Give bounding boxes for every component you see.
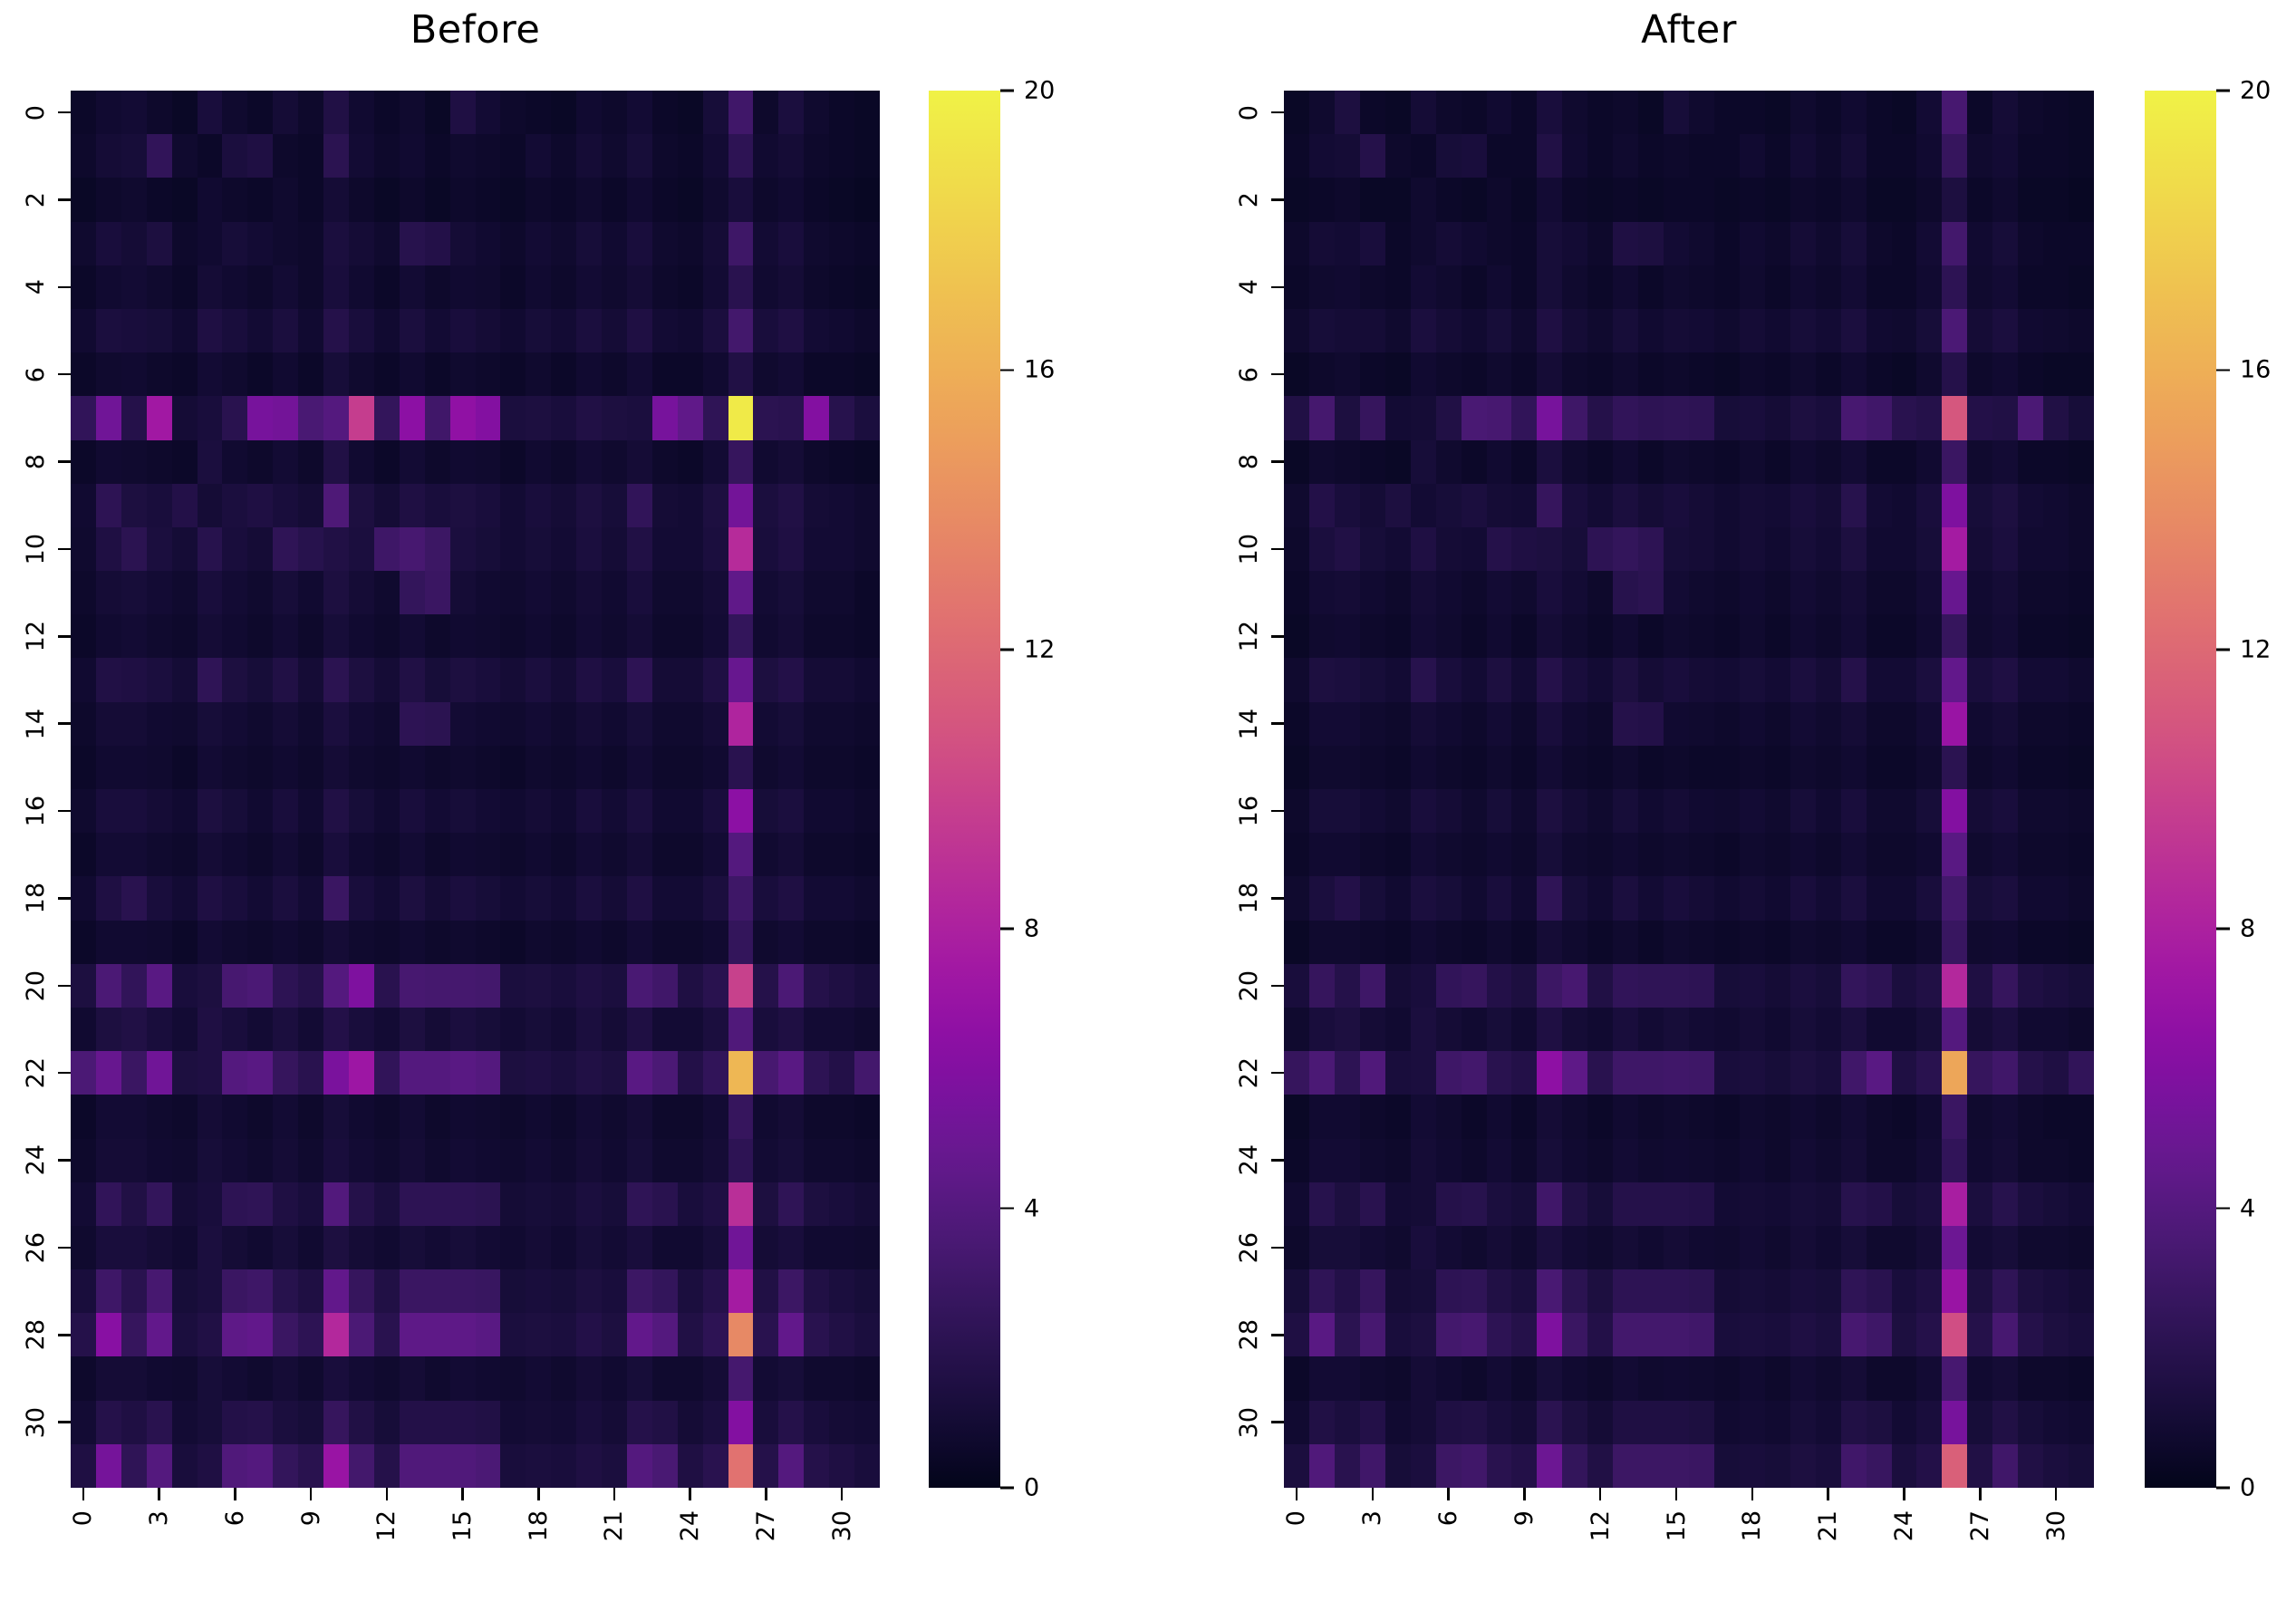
heatmap-cell: [2018, 1139, 2043, 1182]
heatmap-cell: [1462, 571, 1487, 614]
heatmap-cell: [1942, 265, 1967, 309]
heatmap-cell: [2018, 440, 2043, 484]
heatmap-cell: [1664, 1313, 1689, 1356]
heatmap-cell: [1816, 352, 1841, 396]
x-axis-tick: 21: [594, 1488, 634, 1541]
heatmap-cell: [1537, 571, 1562, 614]
heatmap-cell: [526, 964, 551, 1008]
heatmap-cell: [1967, 746, 1992, 789]
heatmap-cell: [829, 1356, 854, 1400]
x-tick-label: 21: [1816, 1510, 1840, 1541]
y-axis-tick: 20: [1237, 966, 1284, 1006]
heatmap-cell: [728, 964, 754, 1008]
heatmap-cell: [1284, 789, 1309, 833]
x-axis-tick: 0: [63, 1488, 103, 1526]
heatmap-cell: [500, 1444, 526, 1488]
heatmap-cell: [476, 1226, 501, 1269]
heatmap-cell: [2069, 658, 2094, 701]
heatmap-cell: [273, 484, 298, 527]
heatmap-cell: [1967, 352, 1992, 396]
heatmap-cell: [400, 614, 425, 658]
heatmap-cell: [323, 222, 349, 265]
heatmap-cell: [222, 440, 247, 484]
heatmap-cell: [526, 1095, 551, 1138]
heatmap-cell: [2069, 134, 2094, 178]
heatmap-cell: [576, 527, 602, 571]
heatmap-cell: [753, 352, 778, 396]
heatmap-cell: [728, 484, 754, 527]
heatmap-cell: [1740, 1051, 1765, 1095]
heatmap-cell: [450, 746, 476, 789]
heatmap-cell: [1562, 1182, 1587, 1226]
heatmap-cell: [753, 1313, 778, 1356]
heatmap-cell: [728, 1269, 754, 1313]
heatmap-cell: [1284, 614, 1309, 658]
y-tick-label: 14: [1237, 709, 1261, 739]
heatmap-cell: [96, 702, 121, 746]
heatmap-cell: [1385, 1444, 1411, 1488]
heatmap-before[interactable]: [71, 91, 880, 1488]
heatmap-cell: [1740, 702, 1765, 746]
heatmap-cell: [728, 396, 754, 439]
heatmap-cell: [703, 789, 728, 833]
heatmap-cell: [1992, 876, 2018, 920]
heatmap-cell: [1714, 1051, 1740, 1095]
y-tick-label: 10: [24, 534, 48, 564]
heatmap-cell: [1967, 964, 1992, 1008]
tick-mark: [689, 1488, 691, 1500]
heatmap-cell: [1664, 396, 1689, 439]
heatmap-cell: [450, 1226, 476, 1269]
heatmap-cell: [1335, 658, 1360, 701]
heatmap-cell: [854, 921, 880, 964]
tick-mark: [58, 373, 71, 376]
heatmap-cell: [1360, 265, 1385, 309]
heatmap-cell: [96, 1313, 121, 1356]
tick-mark: [1000, 928, 1014, 931]
heatmap-cell: [1462, 702, 1487, 746]
heatmap-cell: [1511, 1139, 1537, 1182]
heatmap-cell: [1967, 1444, 1992, 1488]
heatmap-cell: [778, 1095, 804, 1138]
heatmap-cell: [804, 91, 829, 134]
heatmap-cell: [652, 527, 678, 571]
heatmap-cell: [1892, 222, 1917, 265]
heatmap-cell: [400, 1356, 425, 1400]
heatmap-cell: [198, 309, 223, 352]
heatmap-cell: [1892, 1095, 1917, 1138]
heatmap-cell: [1309, 876, 1335, 920]
heatmap-cell: [778, 1051, 804, 1095]
heatmap-cell: [778, 1356, 804, 1400]
heatmap-cell: [576, 702, 602, 746]
heatmap-cell: [551, 1356, 576, 1400]
heatmap-cell: [1867, 440, 1892, 484]
heatmap-cell: [678, 178, 703, 221]
heatmap-cell: [576, 178, 602, 221]
heatmap-cell: [1916, 1008, 1942, 1051]
heatmap-cell: [476, 964, 501, 1008]
heatmap-cell: [728, 876, 754, 920]
heatmap-cell: [753, 1444, 778, 1488]
heatmap-cell: [1867, 876, 1892, 920]
heatmap-cell: [1816, 1051, 1841, 1095]
heatmap-cell: [1587, 222, 1613, 265]
heatmap-cell: [753, 702, 778, 746]
heatmap-cell: [2069, 702, 2094, 746]
heatmap-cell: [96, 746, 121, 789]
heatmap-cell: [1537, 527, 1562, 571]
heatmap-cell: [1411, 1051, 1436, 1095]
heatmap-cell: [172, 658, 198, 701]
heatmap-cell: [1892, 1313, 1917, 1356]
heatmap-cell: [1867, 1051, 1892, 1095]
heatmap-cell: [222, 1401, 247, 1444]
heatmap-cell: [1511, 178, 1537, 221]
heatmap-cell: [1436, 396, 1462, 439]
heatmap-cell: [1765, 178, 1790, 221]
heatmap-cell: [1816, 527, 1841, 571]
heatmap-cell: [500, 614, 526, 658]
heatmap-cell: [1462, 352, 1487, 396]
heatmap-cell: [450, 789, 476, 833]
heatmap-cell: [1916, 789, 1942, 833]
y-axis-tick: 2: [1237, 179, 1284, 219]
heatmap-cell: [1740, 1139, 1765, 1182]
heatmap-cell: [172, 921, 198, 964]
heatmap-cell: [147, 440, 172, 484]
heatmap-cell: [854, 527, 880, 571]
x-axis-tick: 18: [518, 1488, 558, 1541]
heatmap-cell: [298, 91, 323, 134]
heatmap-cell: [627, 527, 652, 571]
heatmap-cell: [1613, 396, 1638, 439]
heatmap-cell: [551, 1182, 576, 1226]
heatmap-cell: [1360, 921, 1385, 964]
heatmap-cell: [147, 964, 172, 1008]
y-axis-tick: 8: [24, 442, 71, 482]
heatmap-cell: [121, 571, 147, 614]
heatmap-cell: [526, 134, 551, 178]
heatmap-cell: [450, 440, 476, 484]
heatmap-cell: [1664, 134, 1689, 178]
heatmap-cell: [1360, 658, 1385, 701]
heatmap-cell: [1816, 1095, 1841, 1138]
heatmap-cell: [1765, 91, 1790, 134]
heatmap-cell: [121, 964, 147, 1008]
heatmap-cell: [703, 352, 728, 396]
heatmap-cell: [1916, 571, 1942, 614]
heatmap-cell: [602, 876, 627, 920]
heatmap-cell: [1790, 484, 1816, 527]
heatmap-cell: [400, 440, 425, 484]
heatmap-cell: [1385, 789, 1411, 833]
heatmap-cell: [1284, 876, 1309, 920]
heatmap-cell: [728, 1095, 754, 1138]
heatmap-cell: [1992, 1008, 2018, 1051]
heatmap-cell: [121, 1313, 147, 1356]
heatmap-cell: [1714, 614, 1740, 658]
heatmap-cell: [1916, 1313, 1942, 1356]
heatmap-cell: [198, 1269, 223, 1313]
heatmap-cell: [298, 789, 323, 833]
heatmap-cell: [1816, 134, 1841, 178]
heatmap-cell: [778, 178, 804, 221]
heatmap-cell: [1790, 789, 1816, 833]
heatmap-cell: [1309, 1226, 1335, 1269]
heatmap-cell: [753, 1051, 778, 1095]
heatmap-cell: [198, 1008, 223, 1051]
heatmap-cell: [1309, 921, 1335, 964]
tick-mark: [841, 1488, 844, 1500]
colorbar-after[interactable]: 048121620: [2145, 91, 2216, 1488]
heatmap-cell: [1613, 484, 1638, 527]
heatmap-cell: [500, 178, 526, 221]
colorbar-before[interactable]: 048121620: [929, 91, 1000, 1488]
colorbar-tick: 12: [2216, 637, 2271, 661]
heatmap-cell: [1942, 876, 1967, 920]
heatmap-cell: [829, 134, 854, 178]
heatmap-cell: [500, 265, 526, 309]
heatmap-cell: [1942, 222, 1967, 265]
heatmap-cell: [500, 702, 526, 746]
heatmap-cell: [1790, 134, 1816, 178]
heatmap-cell: [576, 964, 602, 1008]
heatmap-cell: [1284, 1269, 1309, 1313]
heatmap-cell: [526, 265, 551, 309]
heatmap-cell: [1537, 1139, 1562, 1182]
heatmap-cell: [551, 833, 576, 876]
y-axis-tick: 2: [24, 179, 71, 219]
heatmap-cell: [1511, 571, 1537, 614]
heatmap-cell: [198, 702, 223, 746]
heatmap-cell: [2043, 484, 2069, 527]
heatmap-cell: [1436, 1401, 1462, 1444]
heatmap-cell: [728, 658, 754, 701]
heatmap-after[interactable]: [1284, 91, 2094, 1488]
tick-mark: [1000, 649, 1014, 651]
heatmap-cell: [1790, 702, 1816, 746]
colorbar-tick-label: 4: [2240, 1196, 2255, 1220]
heatmap-cell: [1942, 658, 1967, 701]
heatmap-cell: [323, 178, 349, 221]
heatmap-cell: [1511, 91, 1537, 134]
heatmap-cell: [854, 1139, 880, 1182]
tick-mark: [2216, 928, 2230, 931]
heatmap-cell: [71, 178, 96, 221]
x-tick-label: 12: [374, 1510, 399, 1541]
heatmap-cell: [1511, 1444, 1537, 1488]
heatmap-cell: [1613, 1356, 1638, 1400]
heatmap-cell: [1916, 484, 1942, 527]
heatmap-cell: [400, 921, 425, 964]
heatmap-cell: [1942, 1139, 1967, 1182]
heatmap-cell: [804, 1269, 829, 1313]
heatmap-cell: [1360, 964, 1385, 1008]
heatmap-cell: [1816, 658, 1841, 701]
y-axis-tick: 12: [24, 616, 71, 656]
heatmap-cell: [1562, 1051, 1587, 1095]
heatmap-cell: [804, 746, 829, 789]
heatmap-cell: [121, 1356, 147, 1400]
heatmap-cell: [1892, 1401, 1917, 1444]
heatmap-cell: [476, 746, 501, 789]
heatmap-cell: [500, 571, 526, 614]
heatmap-cell: [753, 833, 778, 876]
heatmap-cell: [425, 178, 450, 221]
heatmap-cell: [374, 396, 400, 439]
heatmap-cell: [1664, 1226, 1689, 1269]
heatmap-cell: [96, 1226, 121, 1269]
heatmap-cell: [778, 921, 804, 964]
heatmap-cell: [2069, 265, 2094, 309]
heatmap-cell: [2069, 1051, 2094, 1095]
heatmap-cell: [476, 833, 501, 876]
heatmap-cell: [703, 1095, 728, 1138]
y-axis-tick: 26: [1237, 1228, 1284, 1268]
heatmap-cell: [1689, 1182, 1714, 1226]
y-axis-tick: 8: [1237, 442, 1284, 482]
heatmap-cell: [1587, 1313, 1613, 1356]
tick-mark: [1271, 985, 1284, 988]
heatmap-cell: [121, 1182, 147, 1226]
heatmap-cell: [728, 222, 754, 265]
heatmap-cell: [1892, 178, 1917, 221]
heatmap-cell: [728, 352, 754, 396]
heatmap-cell: [804, 1182, 829, 1226]
heatmap-cell: [1867, 658, 1892, 701]
heatmap-cell: [551, 1008, 576, 1051]
heatmap-cell: [1613, 309, 1638, 352]
heatmap-cell: [1613, 1269, 1638, 1313]
x-tick-label: 27: [1968, 1510, 1992, 1541]
heatmap-cell: [1335, 265, 1360, 309]
heatmap-cell: [703, 921, 728, 964]
heatmap-cell: [829, 614, 854, 658]
heatmap-cell: [198, 396, 223, 439]
heatmap-cell: [147, 746, 172, 789]
heatmap-cell: [1511, 440, 1537, 484]
heatmap-cell: [1335, 1182, 1360, 1226]
heatmap-cell: [400, 833, 425, 876]
heatmap-cell: [1841, 921, 1867, 964]
heatmap-cell: [96, 833, 121, 876]
tick-mark: [2216, 369, 2230, 371]
heatmap-cell: [1841, 265, 1867, 309]
heatmap-cell: [1613, 1095, 1638, 1138]
heatmap-cell: [323, 1356, 349, 1400]
heatmap-cell: [1916, 1356, 1942, 1400]
heatmap-cell: [2043, 222, 2069, 265]
heatmap-cell: [1765, 134, 1790, 178]
heatmap-cell: [1992, 702, 2018, 746]
heatmap-cell: [854, 178, 880, 221]
heatmap-cell: [1765, 309, 1790, 352]
heatmap-cell: [1562, 1226, 1587, 1269]
heatmap-cell: [551, 396, 576, 439]
heatmap-cell: [1816, 396, 1841, 439]
heatmap-cell: [71, 658, 96, 701]
heatmap-cell: [1309, 1095, 1335, 1138]
heatmap-cell: [1790, 527, 1816, 571]
heatmap-cell: [198, 440, 223, 484]
heatmap-cell: [349, 134, 374, 178]
heatmap-cell: [247, 91, 273, 134]
heatmap-cell: [753, 571, 778, 614]
heatmap-cell: [627, 964, 652, 1008]
heatmap-cell: [96, 1401, 121, 1444]
y-tick-label: 6: [24, 367, 48, 382]
heatmap-cell: [1462, 1401, 1487, 1444]
heatmap-cell: [2018, 571, 2043, 614]
heatmap-cell: [400, 396, 425, 439]
heatmap-cell: [551, 614, 576, 658]
heatmap-cell: [804, 1139, 829, 1182]
heatmap-cell: [703, 746, 728, 789]
heatmap-cell: [121, 789, 147, 833]
heatmap-cell: [1309, 833, 1335, 876]
heatmap-cell: [1537, 309, 1562, 352]
heatmap-cell: [854, 833, 880, 876]
heatmap-cell: [71, 309, 96, 352]
heatmap-cell: [374, 1313, 400, 1356]
tick-mark: [1675, 1488, 1678, 1500]
heatmap-cell: [1613, 527, 1638, 571]
heatmap-cell: [1765, 1356, 1790, 1400]
heatmap-cell: [1765, 396, 1790, 439]
heatmap-cell: [1765, 265, 1790, 309]
heatmap-cell: [71, 1356, 96, 1400]
heatmap-cell: [1664, 91, 1689, 134]
heatmap-cell: [602, 396, 627, 439]
x-tick-label: 0: [71, 1510, 95, 1526]
heatmap-cell: [576, 1269, 602, 1313]
y-axis-tick: 28: [24, 1315, 71, 1355]
heatmap-cell: [1816, 91, 1841, 134]
tick-mark: [1447, 1488, 1450, 1500]
heatmap-cell: [349, 702, 374, 746]
heatmap-cell: [778, 1401, 804, 1444]
heatmap-cell: [829, 1051, 854, 1095]
tick-mark: [1296, 1488, 1298, 1500]
heatmap-cell: [273, 1269, 298, 1313]
heatmap-cell: [1664, 1401, 1689, 1444]
heatmap-cell: [829, 178, 854, 221]
x-tick-label: 9: [299, 1510, 323, 1526]
heatmap-cell: [602, 440, 627, 484]
heatmap-cell: [1487, 1269, 1512, 1313]
heatmap-cell: [1841, 1051, 1867, 1095]
heatmap-cell: [500, 789, 526, 833]
heatmap-cell: [1765, 222, 1790, 265]
heatmap-cell: [1587, 1182, 1613, 1226]
heatmap-cell: [1664, 614, 1689, 658]
heatmap-cell: [551, 876, 576, 920]
heatmap-cell: [1892, 396, 1917, 439]
heatmap-cell: [1462, 309, 1487, 352]
heatmap-cell: [551, 921, 576, 964]
heatmap-cell: [1664, 1269, 1689, 1313]
heatmap-cell: [652, 658, 678, 701]
heatmap-cell: [1487, 178, 1512, 221]
heatmap-cell: [2043, 921, 2069, 964]
heatmap-cell: [1385, 265, 1411, 309]
heatmap-cell: [1587, 134, 1613, 178]
heatmap-cell: [2069, 1182, 2094, 1226]
heatmap-cell: [1689, 702, 1714, 746]
heatmap-cell: [1867, 527, 1892, 571]
x-axis-after: 036912151821242730: [1284, 1488, 2094, 1611]
